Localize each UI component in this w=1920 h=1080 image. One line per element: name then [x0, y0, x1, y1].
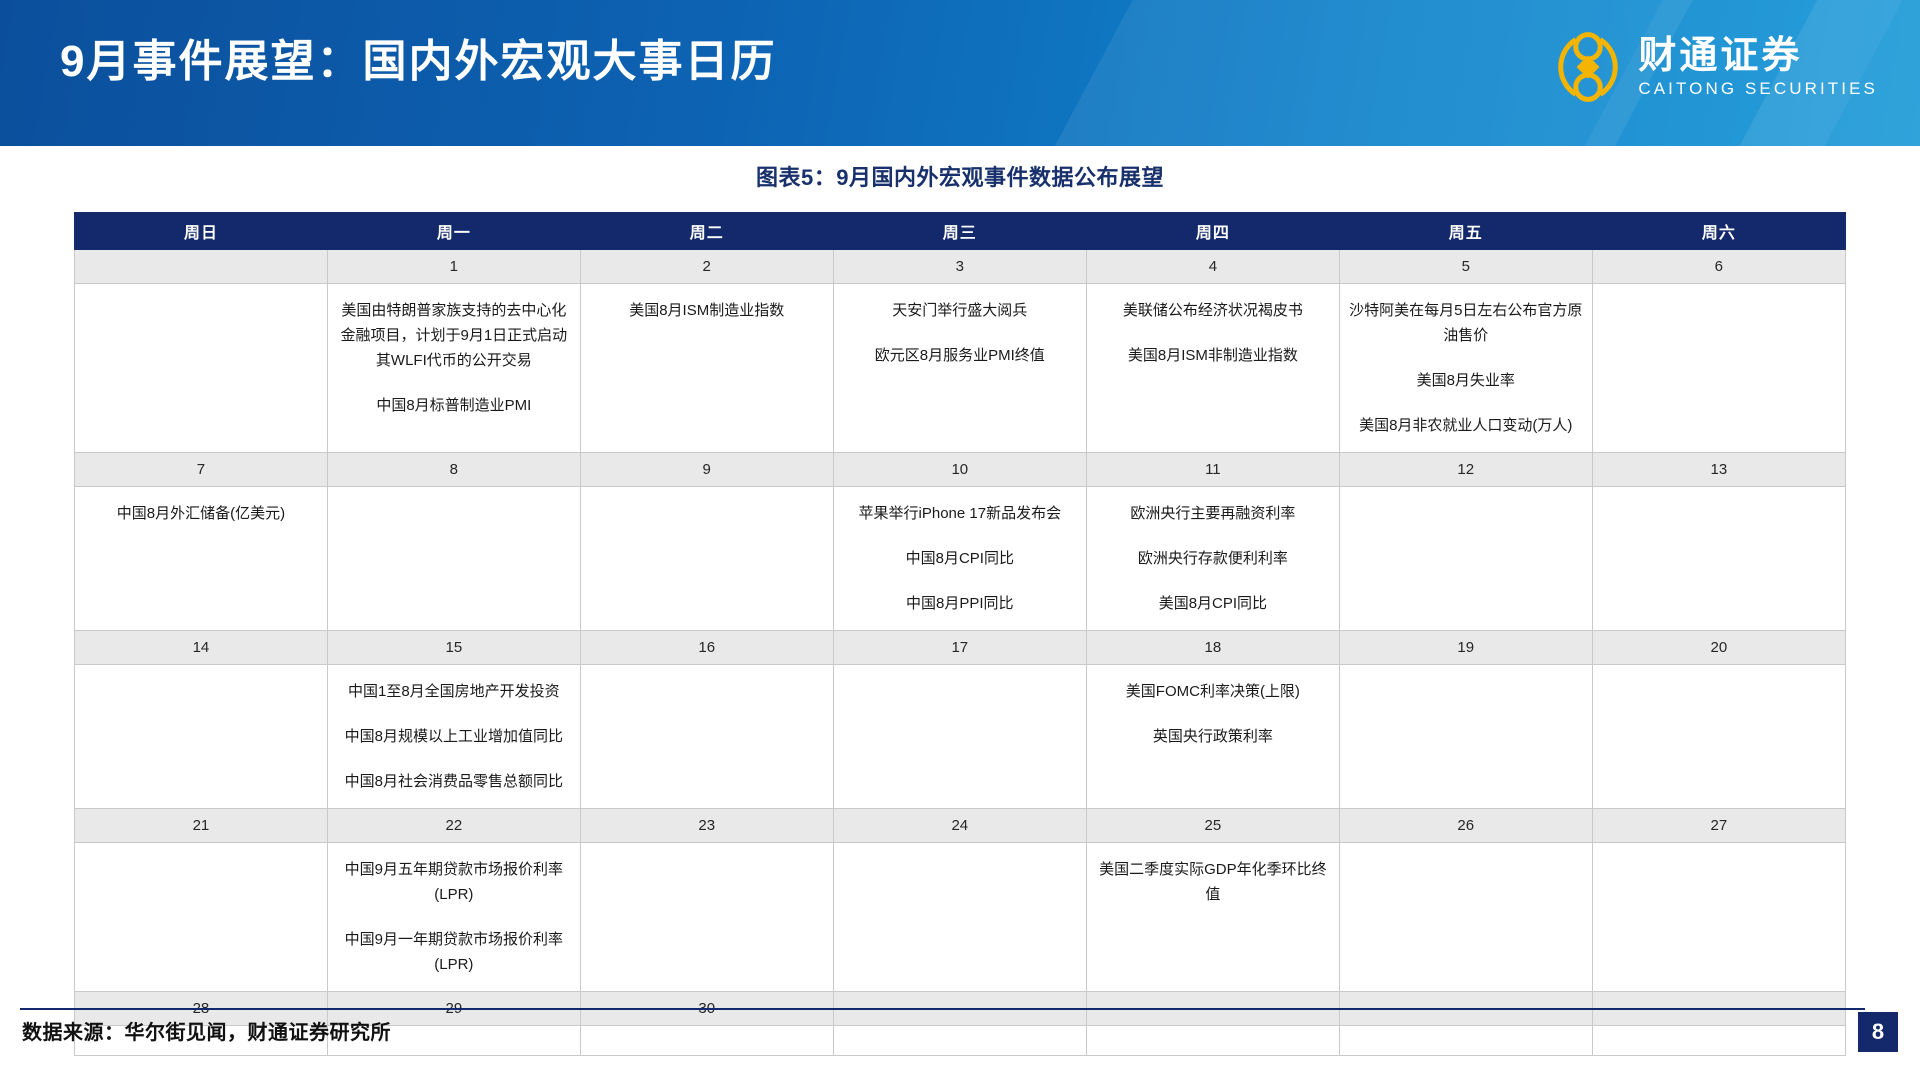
brand-logo: 财通证券 CAITONG SECURITIES — [1552, 24, 1878, 110]
calendar-event-cell-empty — [1339, 487, 1592, 631]
page-number-badge: 8 — [1858, 1012, 1898, 1052]
calendar-col-header-2: 周二 — [580, 213, 833, 250]
calendar-event-cell: 中国9月五年期贷款市场报价利率(LPR)中国9月一年期贷款市场报价利率(LPR) — [327, 843, 580, 992]
calendar-date-row: 78910111213 — [75, 453, 1846, 487]
calendar-date-cell: 16 — [580, 631, 833, 665]
calendar-event-item: 美国8月CPI同比 — [1095, 591, 1331, 616]
calendar-event-cell-empty — [833, 1026, 1086, 1056]
calendar-date-cell: 26 — [1339, 809, 1592, 843]
calendar-event-cell-empty — [580, 665, 833, 809]
calendar-date-cell-empty — [75, 250, 328, 284]
calendar-event-item: 沙特阿美在每月5日左右公布官方原油售价 — [1348, 298, 1584, 348]
calendar-date-cell: 6 — [1592, 250, 1845, 284]
calendar-event-item: 苹果举行iPhone 17新品发布会 — [842, 501, 1078, 526]
calendar-date-cell: 7 — [75, 453, 328, 487]
calendar-event-cell: 沙特阿美在每月5日左右公布官方原油售价美国8月失业率美国8月非农就业人口变动(万… — [1339, 284, 1592, 453]
calendar-event-cell: 美联储公布经济状况褐皮书美国8月ISM非制造业指数 — [1086, 284, 1339, 453]
calendar-date-cell: 23 — [580, 809, 833, 843]
calendar-date-cell: 3 — [833, 250, 1086, 284]
calendar-date-cell: 10 — [833, 453, 1086, 487]
chart-title: 图表5：9月国内外宏观事件数据公布展望 — [0, 160, 1920, 192]
calendar-content-row: 美国由特朗普家族支持的去中心化金融项目，计划于9月1日正式启动其WLFI代币的公… — [75, 284, 1846, 453]
calendar-event-cell-empty — [580, 487, 833, 631]
calendar-col-header-3: 周三 — [833, 213, 1086, 250]
calendar-event-cell-empty — [580, 843, 833, 992]
calendar-event-cell-empty — [1086, 1026, 1339, 1056]
calendar-date-row: 21222324252627 — [75, 809, 1846, 843]
calendar-event-cell-empty — [1339, 665, 1592, 809]
caitong-emblem-icon — [1552, 31, 1624, 103]
calendar-date-cell: 22 — [327, 809, 580, 843]
calendar-content-row: 中国9月五年期贷款市场报价利率(LPR)中国9月一年期贷款市场报价利率(LPR)… — [75, 843, 1846, 992]
calendar-event-item: 欧洲央行存款便利利率 — [1095, 546, 1331, 571]
calendar-table-wrapper: 周日周一周二周三周四周五周六 123456美国由特朗普家族支持的去中心化金融项目… — [74, 212, 1846, 1056]
calendar-event-cell-empty — [75, 843, 328, 992]
footer-divider — [20, 1008, 1865, 1010]
calendar-event-item: 中国9月五年期贷款市场报价利率(LPR) — [336, 857, 572, 907]
brand-name-en: CAITONG SECURITIES — [1638, 78, 1878, 100]
calendar-date-cell: 2 — [580, 250, 833, 284]
calendar-col-header-4: 周四 — [1086, 213, 1339, 250]
calendar-event-item: 美国二季度实际GDP年化季环比终值 — [1095, 857, 1331, 907]
calendar-event-cell: 苹果举行iPhone 17新品发布会中国8月CPI同比中国8月PPI同比 — [833, 487, 1086, 631]
calendar-event-item: 美国8月ISM非制造业指数 — [1095, 343, 1331, 368]
calendar-event-item: 中国8月社会消费品零售总额同比 — [336, 769, 572, 794]
calendar-header: 周日周一周二周三周四周五周六 — [75, 213, 1846, 250]
calendar-event-item: 美国8月ISM制造业指数 — [589, 298, 825, 323]
calendar-body: 123456美国由特朗普家族支持的去中心化金融项目，计划于9月1日正式启动其WL… — [75, 250, 1846, 1056]
calendar-event-cell-empty — [833, 843, 1086, 992]
calendar-event-item: 欧洲央行主要再融资利率 — [1095, 501, 1331, 526]
calendar-date-cell: 24 — [833, 809, 1086, 843]
calendar-col-header-1: 周一 — [327, 213, 580, 250]
calendar-date-cell: 17 — [833, 631, 1086, 665]
calendar-date-cell: 13 — [1592, 453, 1845, 487]
calendar-event-cell: 美国FOMC利率决策(上限)英国央行政策利率 — [1086, 665, 1339, 809]
calendar-date-cell: 5 — [1339, 250, 1592, 284]
calendar-date-cell: 19 — [1339, 631, 1592, 665]
calendar-date-cell: 12 — [1339, 453, 1592, 487]
calendar-event-cell-empty — [1592, 284, 1845, 453]
calendar-col-header-0: 周日 — [75, 213, 328, 250]
calendar-date-cell: 21 — [75, 809, 328, 843]
calendar-col-header-6: 周六 — [1592, 213, 1845, 250]
calendar-event-cell: 美国8月ISM制造业指数 — [580, 284, 833, 453]
calendar-event-cell-empty — [833, 665, 1086, 809]
calendar-event-item: 欧元区8月服务业PMI终值 — [842, 343, 1078, 368]
calendar-event-item: 中国8月PPI同比 — [842, 591, 1078, 616]
source-note: 数据来源：华尔街见闻，财通证券研究所 — [22, 1016, 391, 1045]
header-banner: 9月事件展望：国内外宏观大事日历 财通证券 CAITONG SECURITIES — [0, 0, 1920, 146]
calendar-event-cell-empty — [1339, 843, 1592, 992]
calendar-event-cell: 美国由特朗普家族支持的去中心化金融项目，计划于9月1日正式启动其WLFI代币的公… — [327, 284, 580, 453]
calendar-event-cell: 欧洲央行主要再融资利率欧洲央行存款便利利率美国8月CPI同比 — [1086, 487, 1339, 631]
calendar-content-row: 中国8月外汇储备(亿美元)苹果举行iPhone 17新品发布会中国8月CPI同比… — [75, 487, 1846, 631]
calendar-event-item: 美国8月非农就业人口变动(万人) — [1348, 413, 1584, 438]
calendar-date-row: 14151617181920 — [75, 631, 1846, 665]
brand-name-cn: 财通证券 — [1638, 34, 1878, 78]
calendar-date-cell: 20 — [1592, 631, 1845, 665]
calendar-date-cell: 4 — [1086, 250, 1339, 284]
calendar-event-cell-empty — [75, 665, 328, 809]
calendar-event-cell-empty — [327, 487, 580, 631]
calendar-event-cell-empty — [1339, 1026, 1592, 1056]
calendar-event-item: 中国8月规模以上工业增加值同比 — [336, 724, 572, 749]
calendar-col-header-5: 周五 — [1339, 213, 1592, 250]
calendar-date-cell: 14 — [75, 631, 328, 665]
calendar-date-cell: 1 — [327, 250, 580, 284]
calendar-event-item: 中国8月外汇储备(亿美元) — [83, 501, 319, 526]
calendar-event-item: 中国8月标普制造业PMI — [336, 393, 572, 418]
calendar-event-cell: 美国二季度实际GDP年化季环比终值 — [1086, 843, 1339, 992]
calendar-event-cell-empty — [1592, 665, 1845, 809]
calendar-event-cell: 天安门举行盛大阅兵欧元区8月服务业PMI终值 — [833, 284, 1086, 453]
calendar-event-item: 天安门举行盛大阅兵 — [842, 298, 1078, 323]
calendar-event-cell-empty — [580, 1026, 833, 1056]
calendar-event-item: 中国9月一年期贷款市场报价利率(LPR) — [336, 927, 572, 977]
calendar-event-item: 美联储公布经济状况褐皮书 — [1095, 298, 1331, 323]
calendar-event-cell-empty — [1592, 487, 1845, 631]
calendar-date-cell: 27 — [1592, 809, 1845, 843]
macro-events-calendar: 周日周一周二周三周四周五周六 123456美国由特朗普家族支持的去中心化金融项目… — [74, 212, 1846, 1056]
calendar-event-item: 中国1至8月全国房地产开发投资 — [336, 679, 572, 704]
calendar-date-row: 123456 — [75, 250, 1846, 284]
calendar-date-cell: 9 — [580, 453, 833, 487]
calendar-event-cell-empty — [1592, 843, 1845, 992]
calendar-date-cell: 15 — [327, 631, 580, 665]
calendar-header-row: 周日周一周二周三周四周五周六 — [75, 213, 1846, 250]
calendar-event-cell-empty — [1592, 1026, 1845, 1056]
calendar-event-item: 中国8月CPI同比 — [842, 546, 1078, 571]
calendar-event-cell: 中国8月外汇储备(亿美元) — [75, 487, 328, 631]
page-title: 9月事件展望：国内外宏观大事日历 — [60, 32, 776, 92]
calendar-date-cell: 8 — [327, 453, 580, 487]
calendar-date-cell: 18 — [1086, 631, 1339, 665]
calendar-event-item: 美国8月失业率 — [1348, 368, 1584, 393]
calendar-content-row: 中国1至8月全国房地产开发投资中国8月规模以上工业增加值同比中国8月社会消费品零… — [75, 665, 1846, 809]
calendar-date-cell: 11 — [1086, 453, 1339, 487]
calendar-event-item: 英国央行政策利率 — [1095, 724, 1331, 749]
calendar-date-cell: 25 — [1086, 809, 1339, 843]
calendar-event-item: 美国FOMC利率决策(上限) — [1095, 679, 1331, 704]
calendar-event-cell-empty — [75, 284, 328, 453]
calendar-event-cell: 中国1至8月全国房地产开发投资中国8月规模以上工业增加值同比中国8月社会消费品零… — [327, 665, 580, 809]
calendar-event-item: 美国由特朗普家族支持的去中心化金融项目，计划于9月1日正式启动其WLFI代币的公… — [336, 298, 572, 373]
